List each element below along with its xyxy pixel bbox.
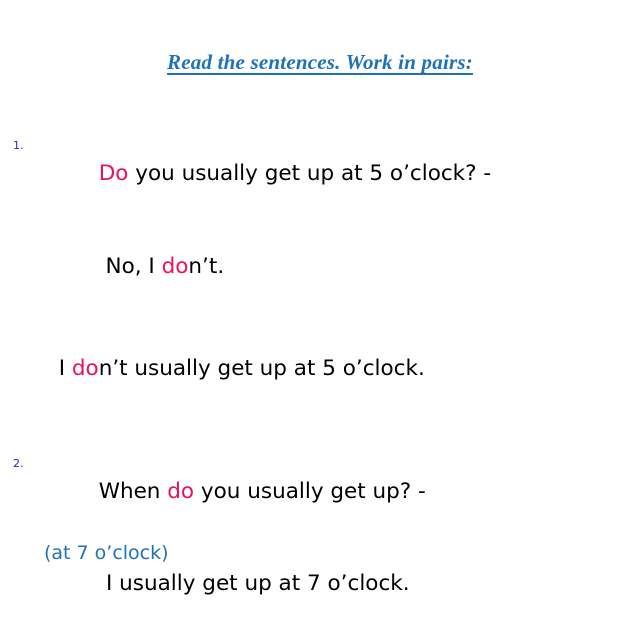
page-title: Read the sentences. Work in pairs: — [167, 50, 473, 75]
hint-text-2: (at 7 o’clock) — [44, 538, 640, 568]
short-answer-line-1: No, I don’t. — [44, 220, 640, 313]
keyword-do: do — [72, 356, 99, 381]
spacer — [44, 313, 640, 322]
question-line-1: Do you usually get up at 5 o’clock? - — [44, 127, 640, 220]
keyword-do: do — [167, 479, 194, 504]
full-answer-line-1: I don’t usually get up at 5 o’clock. — [0, 322, 640, 415]
question-line-2: When do you usually get up? - — [44, 445, 640, 538]
title-container: Read the sentences. Work in pairs: — [0, 50, 640, 75]
full-answer-line-2: I usually get up at 7 o’clock. — [44, 568, 640, 599]
list-item: 2. When do you usually get up? - (at 7 o… — [0, 445, 640, 599]
short-answer-suffix-1: n’t. — [188, 254, 224, 279]
full-answer-prefix-1: I — [59, 356, 72, 381]
list-item: 1. Do you usually get up at 5 o’clock? -… — [0, 127, 640, 415]
sentence-list: 1. Do you usually get up at 5 o’clock? -… — [0, 127, 640, 623]
list-item-marker-1: 1. — [13, 140, 24, 151]
slide-canvas: Read the sentences. Work in pairs: 1. Do… — [0, 0, 640, 480]
full-answer-suffix-1: n’t usually get up at 5 o’clock. — [99, 356, 425, 381]
question-text-1: you usually get up at 5 o’clock? - — [128, 161, 491, 186]
keyword-do: Do — [99, 161, 129, 186]
question-prefix-2: When — [99, 479, 168, 504]
question-suffix-2: you usually get up? - — [194, 479, 426, 504]
list-item-marker-2: 2. — [13, 458, 24, 469]
short-answer-prefix-1: No, I — [99, 254, 162, 279]
keyword-do: do — [162, 254, 189, 279]
